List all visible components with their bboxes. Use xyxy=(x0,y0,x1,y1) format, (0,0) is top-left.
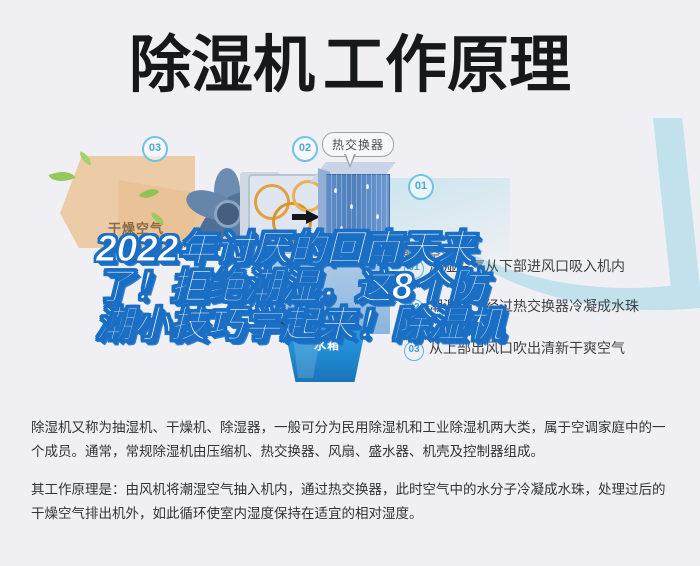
page-title: 除湿机工作原理 xyxy=(0,28,700,104)
article-page: 除湿机工作原理 干燥空气 xyxy=(0,0,700,566)
badge-02: 02 xyxy=(292,136,318,162)
heat-exchanger-callout: 热交换器 xyxy=(322,132,394,157)
overlay-headline-line-1: 2022年讨厌的回南天来 xyxy=(96,230,616,268)
overlay-headline-line-2: 了！拒绝潮湿，这8个防 xyxy=(96,268,616,306)
water-droplet xyxy=(366,184,369,189)
badge-03: 03 xyxy=(142,136,168,162)
article-body: 除湿机又称为抽湿机、干燥机、除湿器，一般可分为民用除湿机和工业除湿机两大类，属于… xyxy=(31,416,671,526)
water-droplet xyxy=(334,188,337,193)
page-title-part-1: 除湿机 xyxy=(129,31,315,100)
badge-01: 01 xyxy=(408,174,434,200)
overlay-headline: 2022年讨厌的回南天来 了！拒绝潮湿，这8个防 潮小技巧学起来！除湿机 xyxy=(96,230,616,344)
water-droplet xyxy=(350,204,353,209)
article-paragraph-2: 其工作原理是：由风机将潮湿空气抽入机内，通过热交换器，此时空气中的水分子冷凝成水… xyxy=(31,478,671,526)
callout-tail xyxy=(344,154,356,168)
overlay-headline-line-3: 潮小技巧学起来！除湿机 xyxy=(96,306,616,344)
water-droplet xyxy=(376,214,379,219)
fan-hub xyxy=(214,200,242,228)
article-paragraph-1: 除湿机又称为抽湿机、干燥机、除湿器，一般可分为民用除湿机和工业除湿机两大类，属于… xyxy=(31,416,671,464)
page-title-part-2: 工作原理 xyxy=(323,31,571,100)
